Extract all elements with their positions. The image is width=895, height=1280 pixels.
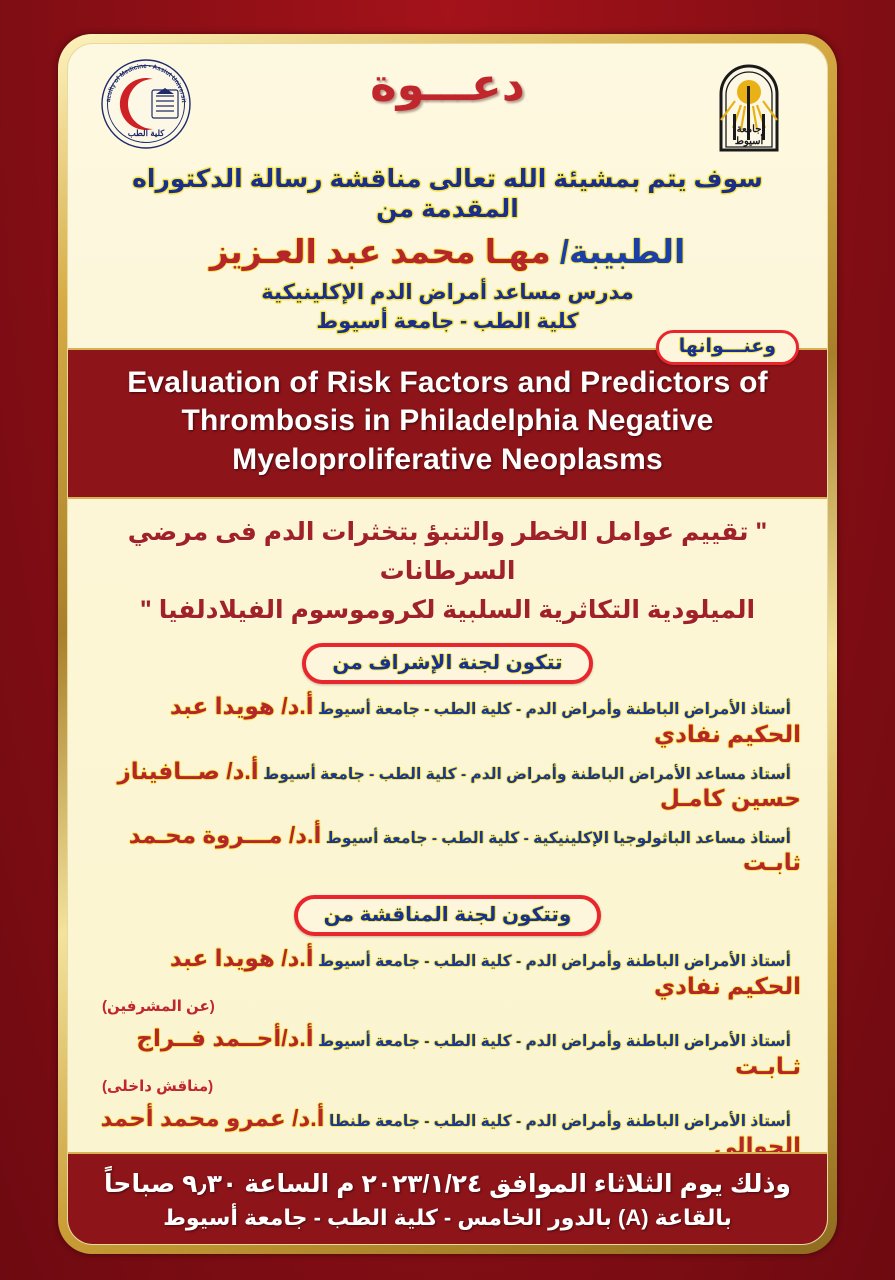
gold-frame-border: كلية الطب Faculty of Medicine - Assiut U… bbox=[58, 34, 837, 1254]
member-affiliation: أستاذ الأمراض الباطنة وأمراض الدم - كلية… bbox=[318, 953, 791, 970]
member-affiliation: أستاذ الأمراض الباطنة وأمراض الدم - كلية… bbox=[329, 1113, 791, 1130]
english-title-line-2: Thrombosis in Philadelphia Negative bbox=[84, 402, 811, 440]
list-item: أستاذ مساعد الأمراض الباطنة وأمراض الدم … bbox=[68, 758, 827, 813]
assiut-university-logo: جامعة أسيوط bbox=[693, 52, 805, 156]
english-title-line-3: Myeloproliferative Neoplasms bbox=[84, 441, 811, 479]
list-item: أستاذ الأمراض الباطنة وأمراض الدم - كلية… bbox=[68, 945, 827, 1016]
candidate-name-row: الطبيبة/ مهـا محمد عبد العـزيز bbox=[92, 232, 803, 271]
supervision-badge-wrapper: تتكون لجنة الإشراف من bbox=[68, 643, 827, 684]
member-role: (عن المشرفين) bbox=[94, 998, 801, 1016]
intro-block: سوف يتم بمشيئة الله تعالى مناقشة رسالة ا… bbox=[68, 164, 827, 334]
list-item: أستاذ الأمراض الباطنة وأمراض الدم - كلية… bbox=[68, 693, 827, 748]
list-item: أستاذ مساعد الباثولوجيا الإكلينيكية - كل… bbox=[68, 822, 827, 877]
candidate-title-label: الطبيبة/ bbox=[560, 233, 685, 270]
arabic-title-line-2: الميلودية التكاثرية السلبية لكروموسوم ال… bbox=[110, 591, 785, 630]
svg-text:أسيوط: أسيوط bbox=[735, 134, 764, 147]
invitation-poster: م. أشـرف دسوقى الـدعـوة عـامـة ٠١٠٠٩٣٤٢٥… bbox=[0, 0, 895, 1280]
member-role: (مناقش داخلى) bbox=[94, 1078, 801, 1096]
english-thesis-title: Evaluation of Risk Factors and Predictor… bbox=[68, 348, 827, 499]
discussion-badge-wrapper: وتتكون لجنة المناقشة من bbox=[68, 895, 827, 936]
event-datetime: وذلك يوم الثلاثاء الموافق ٢٠٢٣/١/٢٤ م ال… bbox=[88, 1166, 807, 1202]
candidate-position: مدرس مساعد أمراض الدم الإكلينيكية bbox=[92, 280, 803, 305]
event-venue: بالقاعة (A) بالدور الخامس - كلية الطب - … bbox=[88, 1202, 807, 1234]
list-item: أستاذ الأمراض الباطنة وأمراض الدم - كلية… bbox=[68, 1025, 827, 1096]
section-spacer bbox=[68, 877, 827, 885]
supervision-committee-badge: تتكون لجنة الإشراف من bbox=[302, 643, 592, 684]
candidate-name: مهـا محمد عبد العـزيز bbox=[210, 233, 551, 270]
thesis-address-badge: وعنـــوانها bbox=[656, 330, 799, 365]
member-affiliation: أستاذ مساعد الباثولوجيا الإكلينيكية - كل… bbox=[326, 830, 791, 847]
event-details-footer: وذلك يوم الثلاثاء الموافق ٢٠٢٣/١/٢٤ م ال… bbox=[68, 1152, 827, 1244]
arabic-title-line-1: " تقييم عوامل الخطر والتنبؤ بتخثرات الدم… bbox=[110, 513, 785, 591]
member-affiliation: أستاذ مساعد الأمراض الباطنة وأمراض الدم … bbox=[263, 766, 791, 783]
discussion-committee-badge: وتتكون لجنة المناقشة من bbox=[294, 895, 602, 936]
svg-text:جامعة: جامعة bbox=[737, 124, 762, 135]
intro-line: سوف يتم بمشيئة الله تعالى مناقشة رسالة ا… bbox=[92, 164, 803, 224]
member-affiliation: أستاذ الأمراض الباطنة وأمراض الدم - كلية… bbox=[318, 1033, 791, 1050]
arabic-thesis-title: " تقييم عوامل الخطر والتنبؤ بتخثرات الدم… bbox=[68, 499, 827, 633]
poster-content-area: كلية الطب Faculty of Medicine - Assiut U… bbox=[67, 43, 828, 1245]
poster-header: كلية الطب Faculty of Medicine - Assiut U… bbox=[68, 44, 827, 162]
english-title-line-1: Evaluation of Risk Factors and Predictor… bbox=[84, 364, 811, 402]
member-affiliation: أستاذ الأمراض الباطنة وأمراض الدم - كلية… bbox=[318, 701, 791, 718]
svg-text:كلية الطب: كلية الطب bbox=[128, 128, 166, 139]
